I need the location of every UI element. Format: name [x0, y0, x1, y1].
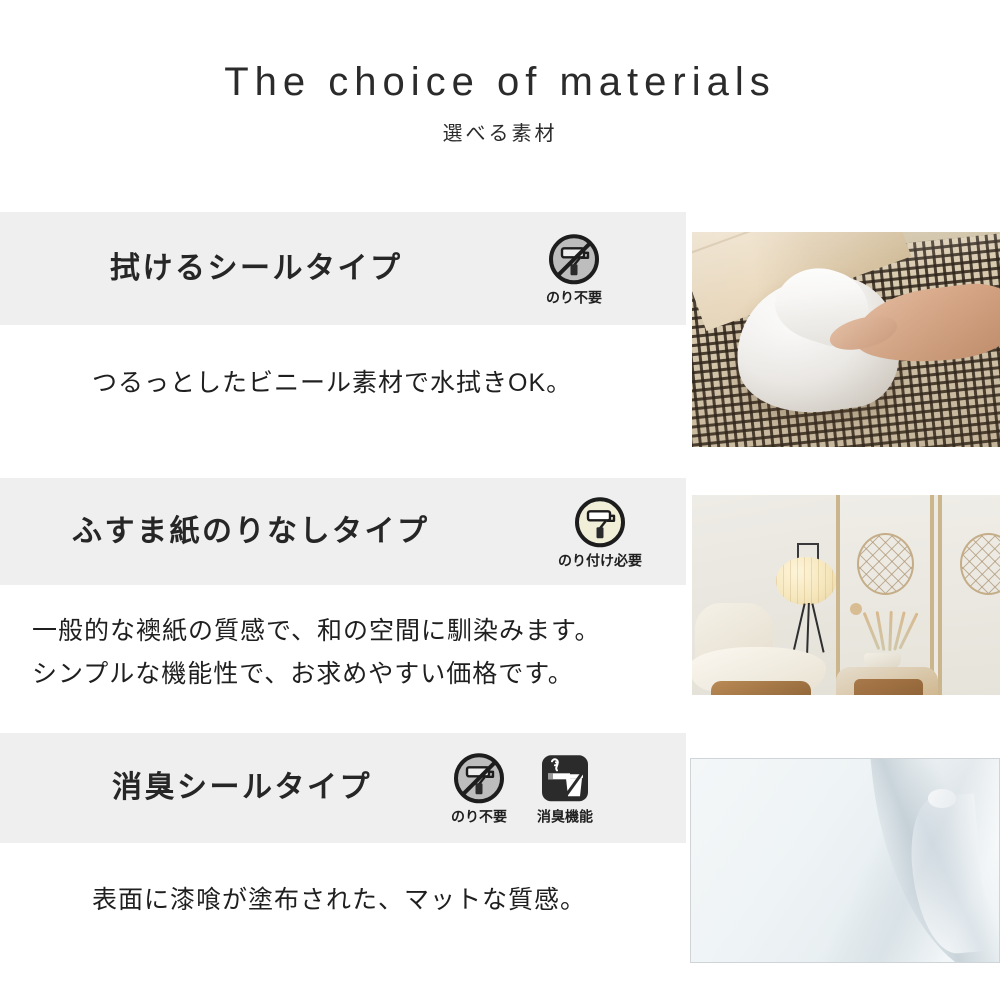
page-subtitle: 選べる素材 [0, 124, 1000, 144]
japanese-interior-fusuma-photo [692, 495, 1000, 695]
section-2-badges: のり付け必要 [540, 495, 660, 568]
material-section-2: ふすま紙のりなしタイプ のり付け必要 一般的な襖紙の質感で [0, 478, 1000, 728]
armchair-base [711, 681, 811, 695]
wiping-towel-on-rattan-photo [692, 232, 1000, 447]
badge-no-glue-label: のり不要 [546, 290, 602, 305]
photo-shading [691, 759, 999, 962]
lattice-circle-1 [857, 533, 914, 595]
paper-lantern-ribs [776, 557, 835, 605]
material-section-3: 消臭シールタイプ のり不要 [0, 733, 1000, 983]
section-1-description: つるっとしたビニール素材で水拭きOK。 [92, 364, 572, 403]
material-choice-page: The choice of materials 選べる素材 拭けるシールタイプ [0, 0, 1000, 1000]
badge-deodorize: 消臭機能 [531, 751, 599, 824]
no-glue-roller-icon [547, 232, 601, 286]
section-1-badges: のり不要 [540, 232, 608, 305]
deodorize-function-icon [538, 751, 592, 805]
glue-required-roller-icon [573, 495, 627, 549]
section-3-badges: のり不要 消臭機能 [445, 751, 599, 824]
badge-no-glue: のり不要 [445, 751, 513, 824]
section-1-title: 拭けるシールタイプ [110, 254, 403, 284]
badge-no-glue: のり不要 [540, 232, 608, 305]
badge-no-glue-label: のり不要 [451, 809, 507, 824]
material-section-1: 拭けるシールタイプ のり不要 [0, 212, 1000, 462]
badge-deodorize-label: 消臭機能 [537, 809, 593, 824]
side-table-leg [854, 679, 923, 695]
page-title: The choice of materials [0, 62, 1000, 102]
section-2-title: ふすま紙のりなしタイプ [72, 517, 430, 547]
door-pull [850, 603, 862, 615]
photo-shading [692, 232, 1000, 447]
section-3-band: 消臭シールタイプ のり不要 [0, 733, 686, 843]
page-header: The choice of materials 選べる素材 [0, 0, 1000, 144]
section-3-description: 表面に漆喰が塗布された、マットな質感。 [92, 881, 586, 920]
badge-glue-required: のり付け必要 [540, 495, 660, 568]
section-2-description-line-2: シンプルな機能性で、お求めやすい価格です。 [32, 655, 574, 694]
curled-white-sheet-photo [690, 758, 1000, 963]
section-1-band: 拭けるシールタイプ のり不要 [0, 212, 686, 325]
section-3-title: 消臭シールタイプ [112, 773, 372, 803]
fusuma-panel-2 [938, 495, 1000, 695]
badge-glue-required-label: のり付け必要 [558, 553, 642, 568]
section-2-description-line-1: 一般的な襖紙の質感で、和の空間に馴染みます。 [32, 612, 601, 651]
section-2-band: ふすま紙のりなしタイプ のり付け必要 [0, 478, 686, 585]
no-glue-roller-icon [452, 751, 506, 805]
